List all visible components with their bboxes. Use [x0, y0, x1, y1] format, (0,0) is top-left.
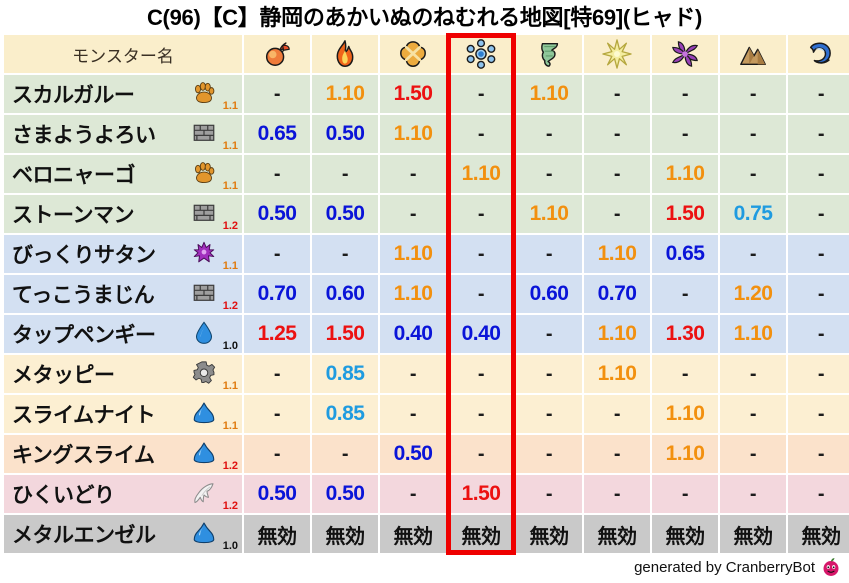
- resistance-cell: 0.65: [244, 115, 310, 153]
- resistance-cell: 0.40: [448, 315, 514, 353]
- resistance-cell: -: [312, 155, 378, 193]
- resistance-cell: 0.50: [380, 435, 446, 473]
- resistance-cell: 0.85: [312, 395, 378, 433]
- brick-icon: [192, 121, 216, 145]
- version-badge: 1.1: [223, 381, 238, 392]
- resistance-cell: -: [652, 75, 718, 113]
- resistance-cell: -: [516, 315, 582, 353]
- resistance-cell: 1.25: [244, 315, 310, 353]
- resistance-cell: 0.60: [312, 275, 378, 313]
- header-flame-icon[interactable]: [312, 35, 378, 73]
- monster-name: スライムナイト: [12, 399, 155, 429]
- resistance-cell: 無効: [312, 515, 378, 553]
- purple-swirl-icon: [652, 39, 718, 69]
- resistance-cell: -: [244, 355, 310, 393]
- resistance-cell: -: [448, 115, 514, 153]
- resistance-cell: 1.10: [720, 315, 786, 353]
- resistance-cell: 0.50: [244, 475, 310, 513]
- version-badge: 1.1: [223, 101, 238, 112]
- resistance-cell: -: [652, 355, 718, 393]
- resistance-cell: -: [448, 355, 514, 393]
- paw-icon: [192, 81, 216, 105]
- resistance-cell: -: [720, 355, 786, 393]
- resistance-cell: -: [788, 235, 849, 273]
- resistance-cell: -: [448, 395, 514, 433]
- resistance-cell: -: [380, 355, 446, 393]
- star-burst-icon: [584, 39, 650, 69]
- header-wave-icon[interactable]: [788, 35, 849, 73]
- wave-icon: [788, 39, 849, 69]
- header-mountain-icon[interactable]: [720, 35, 786, 73]
- resistance-cell: 無効: [652, 515, 718, 553]
- resistance-cell: 1.10: [516, 195, 582, 233]
- version-badge: 1.1: [223, 261, 238, 272]
- resistance-cell: -: [584, 195, 650, 233]
- monster-name-cell[interactable]: ひくいどり1.2: [4, 475, 242, 513]
- table-row[interactable]: タップペンギー1.01.251.500.400.40-1.101.301.10-: [4, 315, 849, 353]
- resistance-cell: 1.10: [652, 395, 718, 433]
- cranberry-icon: [821, 557, 841, 577]
- table-row[interactable]: びっくりサタン1.1--1.10--1.100.65--: [4, 235, 849, 273]
- brick-icon: [192, 281, 216, 305]
- header-star-burst-icon[interactable]: [584, 35, 650, 73]
- resistance-cell: -: [788, 435, 849, 473]
- header-row: モンスター名: [4, 35, 849, 73]
- table-row[interactable]: メタッピー1.1-0.85---1.10---: [4, 355, 849, 393]
- table-row[interactable]: ベロニャーゴ1.1---1.10--1.10--: [4, 155, 849, 193]
- resistance-cell: 1.10: [584, 235, 650, 273]
- header-purple-swirl-icon[interactable]: [652, 35, 718, 73]
- slime-icon: [192, 521, 216, 545]
- resistance-cell: -: [380, 475, 446, 513]
- resistance-cell: -: [312, 435, 378, 473]
- version-badge: 1.1: [223, 421, 238, 432]
- resistance-cell: 1.20: [720, 275, 786, 313]
- resistance-cell: -: [448, 75, 514, 113]
- resistance-cell: 1.10: [516, 75, 582, 113]
- resistance-cell: -: [720, 235, 786, 273]
- version-badge: 1.2: [223, 461, 238, 472]
- resistance-cell: 1.10: [652, 435, 718, 473]
- monster-name: ひくいどり: [12, 479, 115, 509]
- resistance-cell: 無効: [380, 515, 446, 553]
- resistance-cell: 1.10: [584, 355, 650, 393]
- monster-name-cell[interactable]: タップペンギー1.0: [4, 315, 242, 353]
- table-row[interactable]: さまようよろい1.10.650.501.10------: [4, 115, 849, 153]
- monster-name-cell[interactable]: メタルエンゼル1.0: [4, 515, 242, 553]
- resistance-cell: 1.50: [312, 315, 378, 353]
- resistance-cell: 0.65: [652, 235, 718, 273]
- slime-icon: [192, 441, 216, 465]
- resistance-cell: 無効: [584, 515, 650, 553]
- table-head: モンスター名: [4, 35, 849, 73]
- version-badge: 1.0: [223, 341, 238, 352]
- flame-icon: [312, 39, 378, 69]
- monster-name-cell[interactable]: メタッピー1.1: [4, 355, 242, 393]
- resistance-cell: -: [720, 75, 786, 113]
- resistance-cell: -: [516, 475, 582, 513]
- resistance-cell: -: [380, 155, 446, 193]
- page-title: C(96)【C】静岡のあかいぬのねむれる地図[特69](ヒャド): [0, 0, 849, 32]
- resistance-cell: -: [788, 275, 849, 313]
- resistance-cell: -: [448, 275, 514, 313]
- resistance-table: モンスター名 スカルガルー1.1-1.101.50-1.10----さまようよろ…: [2, 33, 849, 555]
- resistance-cell: 1.10: [448, 155, 514, 193]
- resistance-cell: 無効: [448, 515, 514, 553]
- resistance-cell: -: [584, 395, 650, 433]
- version-badge: 1.2: [223, 301, 238, 312]
- monster-name-cell[interactable]: びっくりサタン1.1: [4, 235, 242, 273]
- resistance-cell: 0.50: [312, 475, 378, 513]
- resistance-cell: -: [244, 435, 310, 473]
- table-row[interactable]: ひくいどり1.20.500.50-1.50-----: [4, 475, 849, 513]
- monster-name: スカルガルー: [12, 79, 134, 109]
- resistance-cell: -: [788, 75, 849, 113]
- resistance-cell: -: [380, 395, 446, 433]
- resistance-cell: -: [244, 395, 310, 433]
- resistance-cell: -: [720, 395, 786, 433]
- table-row[interactable]: てっこうまじん1.20.700.601.10-0.600.70-1.20-: [4, 275, 849, 313]
- mountain-icon: [720, 39, 786, 69]
- resistance-cell: -: [788, 475, 849, 513]
- version-badge: 1.2: [223, 501, 238, 512]
- monster-name: キングスライム: [12, 439, 154, 469]
- resistance-cell: -: [788, 395, 849, 433]
- resistance-cell: 1.50: [448, 475, 514, 513]
- resistance-cell: 0.75: [720, 195, 786, 233]
- resistance-cell: 0.70: [244, 275, 310, 313]
- resistance-cell: -: [652, 115, 718, 153]
- resistance-cell: -: [788, 155, 849, 193]
- resistance-cell: -: [584, 115, 650, 153]
- resistance-cell: -: [448, 235, 514, 273]
- resistance-cell: 無効: [516, 515, 582, 553]
- resistance-cell: 無効: [720, 515, 786, 553]
- resistance-cell: 1.50: [380, 75, 446, 113]
- table-row[interactable]: スライムナイト1.1-0.85----1.10--: [4, 395, 849, 433]
- header-fire-meteor-icon[interactable]: [244, 35, 310, 73]
- resistance-cell: 1.50: [652, 195, 718, 233]
- footer: generated by CranberryBot: [634, 557, 841, 577]
- resistance-cell: -: [244, 155, 310, 193]
- devil-icon: [192, 241, 216, 265]
- resistance-cell: -: [448, 195, 514, 233]
- version-badge: 1.2: [223, 221, 238, 232]
- resistance-cell: 0.70: [584, 275, 650, 313]
- droplet-icon: [192, 321, 216, 345]
- resistance-cell: -: [244, 235, 310, 273]
- resistance-cell: -: [584, 75, 650, 113]
- resistance-cell: -: [380, 195, 446, 233]
- resistance-cell: -: [516, 395, 582, 433]
- resistance-cell: -: [584, 435, 650, 473]
- resistance-cell: -: [516, 355, 582, 393]
- snowflake-icon: [448, 39, 514, 69]
- resistance-cell: 1.10: [380, 275, 446, 313]
- monster-name-cell[interactable]: ベロニャーゴ1.1: [4, 155, 242, 193]
- resistance-cell: -: [652, 475, 718, 513]
- resistance-cell: -: [788, 315, 849, 353]
- monster-name: メタルエンゼル: [12, 519, 156, 549]
- monster-name: メタッピー: [12, 359, 115, 389]
- resistance-cell: 無効: [244, 515, 310, 553]
- slime-icon: [192, 401, 216, 425]
- monster-name: びっくりサタン: [12, 239, 156, 269]
- monster-name: ストーンマン: [12, 199, 134, 229]
- resistance-cell: -: [720, 115, 786, 153]
- resistance-cell: 1.10: [312, 75, 378, 113]
- header-snowflake-icon[interactable]: [448, 35, 514, 73]
- resistance-cell: 1.10: [652, 155, 718, 193]
- version-badge: 1.0: [223, 541, 238, 552]
- monster-name: てっこうまじん: [12, 279, 154, 309]
- monster-name-cell[interactable]: ストーンマン1.2: [4, 195, 242, 233]
- version-badge: 1.1: [223, 181, 238, 192]
- monster-resistance-page: C(96)【C】静岡のあかいぬのねむれる地図[特69](ヒャド) モンスター名 …: [0, 0, 849, 583]
- resistance-cell: -: [516, 155, 582, 193]
- monster-name-cell[interactable]: てっこうまじん1.2: [4, 275, 242, 313]
- table-row[interactable]: ストーンマン1.20.500.50--1.10-1.500.75-: [4, 195, 849, 233]
- monster-name-cell[interactable]: さまようよろい1.1: [4, 115, 242, 153]
- resistance-cell: 0.60: [516, 275, 582, 313]
- header-tornado-icon[interactable]: [516, 35, 582, 73]
- resistance-cell: 1.30: [652, 315, 718, 353]
- resistance-cell: 1.10: [380, 235, 446, 273]
- monster-name: タップペンギー: [12, 319, 156, 349]
- resistance-cell: -: [720, 435, 786, 473]
- resistance-cell: -: [312, 235, 378, 273]
- resistance-cell: -: [584, 475, 650, 513]
- monster-name-cell[interactable]: スカルガルー1.1: [4, 75, 242, 113]
- version-badge: 1.1: [223, 141, 238, 152]
- brick-icon: [192, 201, 216, 225]
- monster-name-cell[interactable]: キングスライム1.2: [4, 435, 242, 473]
- table-body: スカルガルー1.1-1.101.50-1.10----さまようよろい1.10.6…: [4, 75, 849, 553]
- table-row[interactable]: キングスライム1.2--0.50---1.10--: [4, 435, 849, 473]
- resistance-cell: -: [788, 355, 849, 393]
- table-row[interactable]: スカルガルー1.1-1.101.50-1.10----: [4, 75, 849, 113]
- tornado-icon: [516, 39, 582, 69]
- resistance-cell: -: [516, 115, 582, 153]
- resistance-cell: -: [448, 435, 514, 473]
- resistance-cell: -: [788, 195, 849, 233]
- gear-icon: [192, 361, 216, 385]
- resistance-cell: 1.10: [584, 315, 650, 353]
- resistance-cell: 0.40: [380, 315, 446, 353]
- resistance-cell: -: [788, 115, 849, 153]
- footer-text: generated by CranberryBot: [634, 559, 815, 576]
- resistance-cell: 0.50: [244, 195, 310, 233]
- resistance-cell: -: [720, 475, 786, 513]
- wing-icon: [192, 481, 216, 505]
- paw-icon: [192, 161, 216, 185]
- monster-name-cell[interactable]: スライムナイト1.1: [4, 395, 242, 433]
- resistance-cell: 0.50: [312, 115, 378, 153]
- resistance-cell: 1.10: [380, 115, 446, 153]
- fire-meteor-icon: [244, 39, 310, 69]
- resistance-cell: -: [584, 155, 650, 193]
- resistance-cell: -: [516, 435, 582, 473]
- resistance-cell: -: [720, 155, 786, 193]
- monster-name: ベロニャーゴ: [12, 159, 135, 189]
- resistance-cell: 0.85: [312, 355, 378, 393]
- header-explosion-icon[interactable]: [380, 35, 446, 73]
- monster-name: さまようよろい: [12, 119, 156, 149]
- resistance-cell: -: [244, 75, 310, 113]
- resistance-cell: 無効: [788, 515, 849, 553]
- table-row[interactable]: メタルエンゼル1.0無効無効無効無効無効無効無効無効無効: [4, 515, 849, 553]
- explosion-icon: [380, 39, 446, 69]
- header-monster-name: モンスター名: [4, 35, 242, 73]
- resistance-cell: 0.50: [312, 195, 378, 233]
- resistance-cell: -: [516, 235, 582, 273]
- resistance-cell: -: [652, 275, 718, 313]
